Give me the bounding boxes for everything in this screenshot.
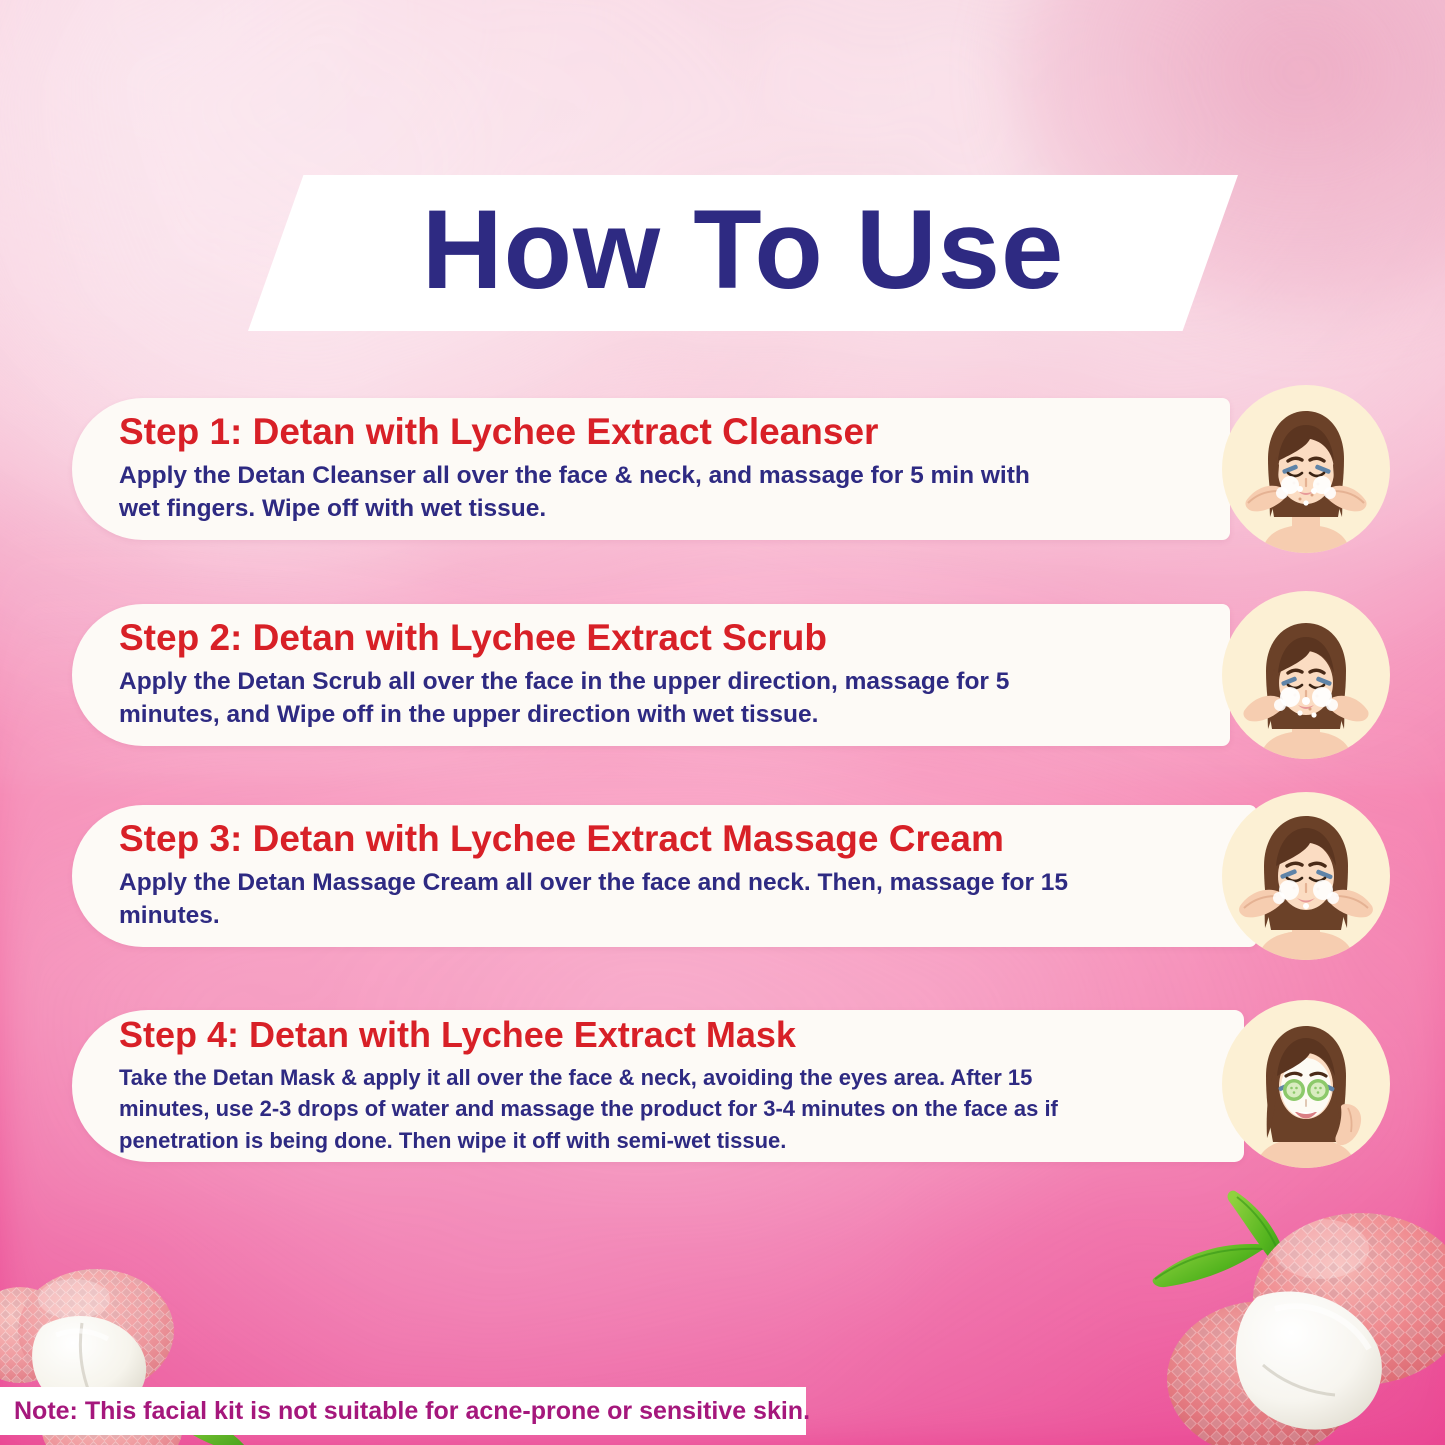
step-4-body: Take the Detan Mask & apply it all over … <box>119 1062 1079 1156</box>
step-3-title: Step 3: Detan with Lychee Extract Massag… <box>119 819 1087 859</box>
note-text: Note: This facial kit is not suitable fo… <box>14 1397 810 1426</box>
woman-massaging-face-icon <box>1222 792 1390 960</box>
woman-cleansing-face-icon <box>1222 385 1390 553</box>
page-title: How To Use <box>422 194 1065 306</box>
step-4-title: Step 4: Detan with Lychee Extract Mask <box>119 1016 1079 1055</box>
step-2-body: Apply the Detan Scrub all over the face … <box>119 665 1060 733</box>
step-card-2: Step 2: Detan with Lychee Extract Scrub … <box>72 604 1230 746</box>
woman-face-mask-cucumber-icon <box>1222 1000 1390 1168</box>
woman-scrubbing-face-icon <box>1222 591 1390 759</box>
step-2-title: Step 2: Detan with Lychee Extract Scrub <box>119 618 1060 658</box>
step-1-body: Apply the Detan Cleanser all over the fa… <box>119 459 1060 527</box>
step-1-title: Step 1: Detan with Lychee Extract Cleans… <box>119 412 1060 452</box>
step-3-body: Apply the Detan Massage Cream all over t… <box>119 866 1087 934</box>
step-card-1: Step 1: Detan with Lychee Extract Cleans… <box>72 398 1230 540</box>
step-card-4: Step 4: Detan with Lychee Extract Mask T… <box>72 1010 1244 1162</box>
note-bar: Note: This facial kit is not suitable fo… <box>0 1387 806 1435</box>
step-card-3: Step 3: Detan with Lychee Extract Massag… <box>72 805 1257 947</box>
header-banner: How To Use <box>248 175 1238 331</box>
